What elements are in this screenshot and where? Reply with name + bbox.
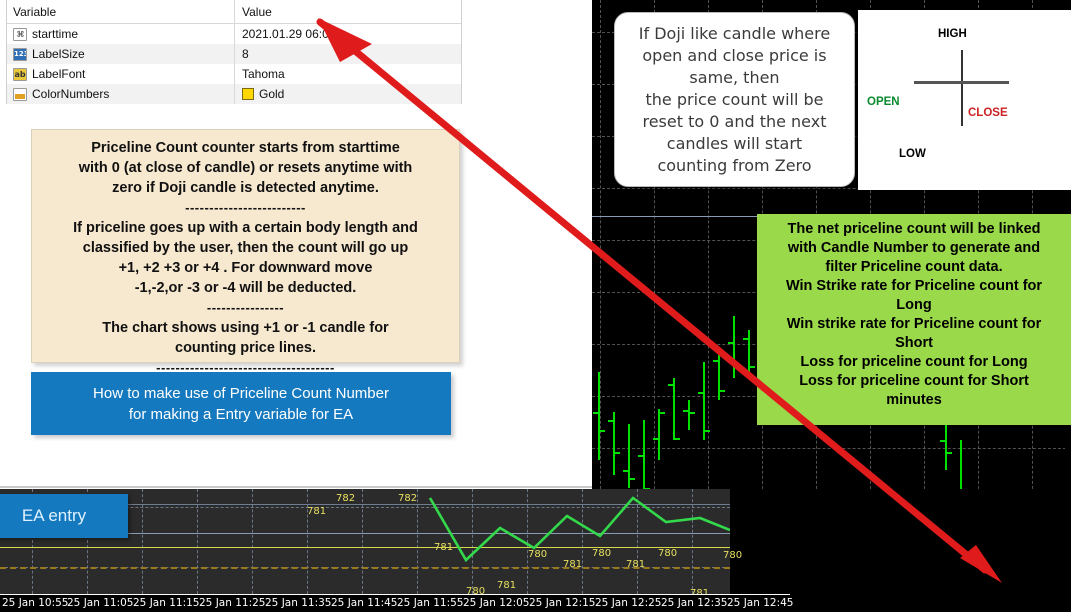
- green-note-line: with Candle Number to generate and: [763, 239, 1065, 258]
- callout-line: counting from Zero: [639, 155, 830, 177]
- time-tick: 25 Jan 12:25: [595, 597, 661, 609]
- color-swatch: [242, 88, 254, 100]
- price-number-label: 781: [563, 559, 582, 570]
- column-header-variable: Variable: [7, 0, 235, 23]
- time-tick: 25 Jan 11:05: [67, 597, 133, 609]
- time-tick: 25 Jan 11:25: [199, 597, 265, 609]
- ohlc-bar: [613, 412, 615, 475]
- price-number-label: 782: [336, 493, 355, 504]
- ohlc-bar: [598, 372, 600, 460]
- ohlc-open-tick: [638, 455, 643, 457]
- value-cell[interactable]: Tahoma: [235, 64, 461, 84]
- callout-line: same, then: [639, 67, 830, 89]
- time-tick: 25 Jan 11:15: [133, 597, 199, 609]
- note-line: The chart shows using +1 or -1 candle fo…: [42, 318, 449, 338]
- ohlc-close-tick: [615, 452, 620, 454]
- table-row[interactable]: ⌘ starttime 2021.01.29 06:09: [7, 24, 461, 44]
- ohlc-close-tick: [705, 430, 710, 432]
- time-axis: 25 Jan 10:55 25 Jan 11:05 25 Jan 11:15 2…: [0, 594, 1071, 612]
- ohlc-open-tick: [683, 410, 688, 412]
- table-header-row: Variable Value: [7, 0, 461, 24]
- priceline-count-subchart[interactable]: 781782782781780781780781780780780781781 …: [0, 489, 1071, 612]
- datetime-icon: ⌘: [13, 28, 27, 41]
- variable-name: ColorNumbers: [32, 87, 109, 101]
- time-tick: 25 Jan 11:35: [265, 597, 331, 609]
- callout-line: If Doji like candle where: [639, 23, 830, 45]
- column-header-value: Value: [235, 0, 461, 23]
- variable-cell: 123 LabelSize: [7, 44, 235, 64]
- ohlc-open-tick: [713, 360, 718, 362]
- table-row[interactable]: ColorNumbers Gold: [7, 84, 461, 104]
- ohlc-open-tick: [593, 412, 598, 414]
- time-tick: 25 Jan 12:05: [463, 597, 529, 609]
- ohlc-open-tick: [623, 470, 628, 472]
- price-number-label: 780: [658, 548, 677, 559]
- ohlc-bar: [718, 355, 720, 400]
- ohlc-close-tick: [690, 412, 695, 414]
- green-note-line: The net priceline count will be linked: [763, 220, 1065, 239]
- note-separator: ----------------: [42, 298, 449, 318]
- time-tick: 25 Jan 10:55: [2, 597, 68, 609]
- doji-horizontal-body: [914, 81, 1009, 84]
- time-tick: 25 Jan 11:45: [331, 597, 397, 609]
- price-number-label: 782: [398, 493, 417, 504]
- price-number-label: 781: [434, 542, 453, 553]
- green-note-line: Long: [763, 296, 1065, 315]
- price-number-label: 781: [626, 559, 645, 570]
- ohlc-bar: [658, 409, 660, 460]
- color-icon: [13, 88, 27, 101]
- callout-line: the price count will be: [639, 89, 830, 111]
- time-tick: 25 Jan 11:55: [397, 597, 463, 609]
- callout-line: reset to 0 and the next: [639, 111, 830, 133]
- green-note-line: Win Strike rate for Priceline count for: [763, 277, 1065, 296]
- ohlc-open-tick: [698, 392, 703, 394]
- price-number-label: 781: [497, 580, 516, 591]
- ohlc-close-tick: [735, 364, 740, 366]
- doji-open-label: OPEN: [867, 96, 900, 108]
- time-tick: 25 Jan 12:15: [529, 597, 595, 609]
- ohlc-bar: [688, 400, 690, 430]
- value-cell[interactable]: Gold: [235, 84, 461, 104]
- ohlc-open-tick: [940, 440, 945, 442]
- number-icon: 123: [13, 48, 27, 61]
- price-number-label: 780: [592, 548, 611, 559]
- blue-note-line: for making a Entry variable for EA: [93, 404, 389, 425]
- time-tick: 25 Jan 12:35: [661, 597, 727, 609]
- green-note-line: Loss for priceline count for Long: [763, 353, 1065, 372]
- note-line: classified by the user, then the count w…: [42, 238, 449, 258]
- ea-entry-tag: EA entry: [0, 494, 128, 538]
- note-line: -1,-2,or -3 or -4 will be deducted.: [42, 278, 449, 298]
- ohlc-open-tick: [653, 438, 658, 440]
- note-line: If priceline goes up with a certain body…: [42, 218, 449, 238]
- doji-candle-diagram: HIGH LOW OPEN CLOSE: [858, 10, 1071, 190]
- green-note-line: Loss for priceline count for Short: [763, 372, 1065, 391]
- green-note-line: Win strike rate for Priceline count for: [763, 315, 1065, 334]
- ohlc-close-tick: [675, 438, 680, 440]
- value-cell[interactable]: 8: [235, 44, 461, 64]
- note-separator: -------------------------: [42, 198, 449, 218]
- callout-line: open and close price is: [639, 45, 830, 67]
- ohlc-close-tick: [600, 430, 605, 432]
- green-note-line: minutes: [763, 391, 1065, 410]
- note-line: counting price lines.: [42, 338, 449, 358]
- ohlc-open-tick: [743, 338, 748, 340]
- priceline-count-note: Priceline Count counter starts from star…: [31, 129, 460, 363]
- ohlc-close-tick: [630, 478, 635, 480]
- table-row[interactable]: ab LabelFont Tahoma: [7, 64, 461, 84]
- value-cell[interactable]: 2021.01.29 06:09: [235, 24, 461, 44]
- ohlc-bar: [703, 362, 705, 440]
- note-line: zero if Doji candle is detected anytime.: [42, 178, 449, 198]
- ohlc-close-tick: [750, 366, 755, 368]
- variable-cell: ColorNumbers: [7, 84, 235, 104]
- price-number-label: 780: [723, 550, 742, 561]
- variable-name: LabelSize: [32, 47, 85, 61]
- ohlc-open-tick: [608, 420, 613, 422]
- ohlc-close-tick: [947, 452, 952, 454]
- note-line: with 0 (at close of candle) or resets an…: [42, 158, 449, 178]
- doji-close-label: CLOSE: [968, 107, 1008, 119]
- doji-vertical-wick: [961, 50, 963, 126]
- callout-line: candles will start: [639, 133, 830, 155]
- ohlc-bar: [673, 378, 675, 440]
- ohlc-bar: [643, 420, 645, 492]
- variable-name: LabelFont: [32, 67, 85, 81]
- blue-note-line: How to make use of Priceline Count Numbe…: [93, 383, 389, 404]
- ohlc-bar: [733, 316, 735, 378]
- note-line: +1, +2 +3 or +4 . For downward move: [42, 258, 449, 278]
- variable-name: starttime: [32, 27, 78, 41]
- font-icon: ab: [13, 68, 27, 81]
- left-document-page: Variable Value ⌘ starttime 2021.01.29 06…: [0, 0, 592, 488]
- price-number-label: 781: [307, 506, 326, 517]
- doji-high-label: HIGH: [938, 28, 967, 40]
- variable-cell: ⌘ starttime: [7, 24, 235, 44]
- value-text: Gold: [259, 87, 284, 101]
- ohlc-close-tick: [660, 412, 665, 414]
- table-row[interactable]: 123 LabelSize 8: [7, 44, 461, 64]
- ohlc-open-tick: [668, 384, 673, 386]
- ohlc-close-tick: [720, 390, 725, 392]
- doji-low-label: LOW: [899, 148, 926, 160]
- doji-explanation-callout: If Doji like candle where open and close…: [614, 12, 855, 187]
- ea-entry-variable-note: How to make use of Priceline Count Numbe…: [31, 372, 451, 435]
- properties-table[interactable]: Variable Value ⌘ starttime 2021.01.29 06…: [6, 0, 462, 104]
- time-tick: 25 Jan 12:45: [727, 597, 793, 609]
- green-note-line: Short: [763, 334, 1065, 353]
- price-number-label: 780: [528, 549, 547, 560]
- variable-cell: ab LabelFont: [7, 64, 235, 84]
- green-note-line: filter Priceline count data.: [763, 258, 1065, 277]
- ohlc-open-tick: [728, 342, 733, 344]
- priceline-count-linkage-note: The net priceline count will be linked w…: [757, 214, 1071, 425]
- note-line: Priceline Count counter starts from star…: [42, 138, 449, 158]
- ea-entry-label: EA entry: [22, 506, 86, 526]
